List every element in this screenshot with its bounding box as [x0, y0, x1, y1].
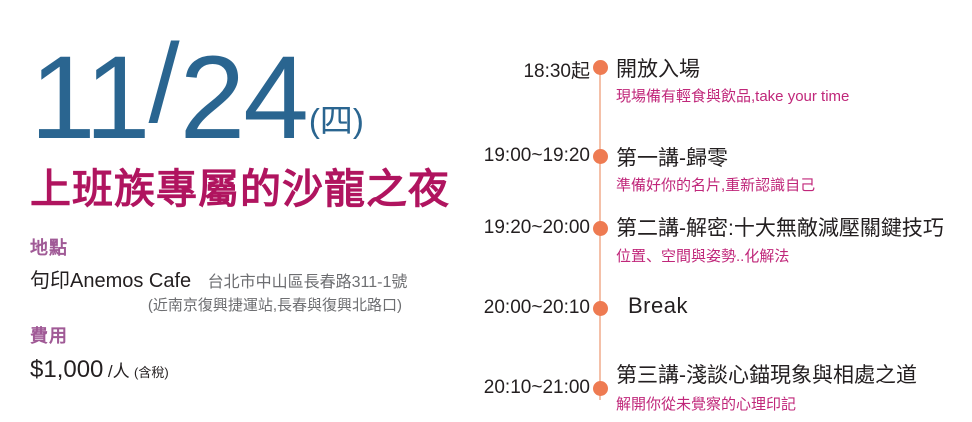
- timeline-time: 19:00~19:20: [440, 145, 590, 167]
- fee-tax-note: (含稅): [134, 365, 169, 380]
- timeline-subtitle: 準備好你的名片,重新認識自己: [616, 174, 815, 195]
- date-weekday: (四): [309, 94, 364, 148]
- event-schedule-timeline: 18:30起 開放入場 現場備有輕食與飲品,take your time 19:…: [440, 0, 972, 422]
- timeline-dot-icon: [593, 149, 608, 164]
- event-poster: 11 / 24 (四) 上班族專屬的沙龍之夜 地點 句印Anemos Cafe …: [0, 0, 972, 422]
- timeline-title: Break: [628, 293, 688, 319]
- timeline-time: 18:30起: [440, 56, 590, 83]
- fee-label: 費用: [30, 322, 68, 348]
- timeline-title: 第一講-歸零: [616, 142, 728, 172]
- event-info-panel: 11 / 24 (四) 上班族專屬的沙龍之夜 地點 句印Anemos Cafe …: [0, 0, 440, 422]
- venue-address: 台北市中山區長春路311-1號: [208, 274, 408, 291]
- fee-amount: $1,000: [30, 356, 103, 383]
- timeline-dot-icon: [593, 60, 608, 75]
- date-separator: /: [149, 19, 180, 148]
- date-month: 11: [30, 49, 149, 148]
- timeline-dot-icon: [593, 221, 608, 236]
- timeline-title: 第三講-淺談心錨現象與相處之道: [616, 359, 917, 389]
- timeline-time: 20:10~21:00: [440, 377, 590, 399]
- timeline-title: 第二講-解密:十大無敵減壓關鍵技巧: [616, 212, 944, 242]
- venue-line: 句印Anemos Cafe 台北市中山區長春路311-1號: [30, 264, 402, 293]
- date-day: 24: [180, 49, 307, 148]
- location-label: 地點: [30, 234, 68, 260]
- timeline-dot-icon: [593, 301, 608, 316]
- fee-value: $1,000 /人 (含稅): [30, 356, 169, 384]
- timeline-subtitle: 位置、空間與姿勢..化解法: [616, 245, 789, 266]
- timeline-subtitle: 解開你從未覺察的心理印記: [616, 393, 796, 414]
- timeline-dot-icon: [593, 381, 608, 396]
- fee-unit: /人: [108, 362, 130, 381]
- timeline-time: 19:20~20:00: [440, 217, 590, 239]
- poster-headline: 上班族專屬的沙龍之夜: [30, 155, 450, 215]
- timeline-time: 20:00~20:10: [440, 297, 590, 319]
- timeline-title: 開放入場: [616, 53, 700, 83]
- event-date: 11 / 24 (四): [30, 36, 364, 148]
- timeline-subtitle: 現場備有輕食與飲品,take your time: [616, 85, 849, 106]
- venue-transit-note: (近南京復興捷運站,長春與復興北路口): [30, 294, 402, 315]
- venue-name: 句印Anemos Cafe: [30, 270, 191, 292]
